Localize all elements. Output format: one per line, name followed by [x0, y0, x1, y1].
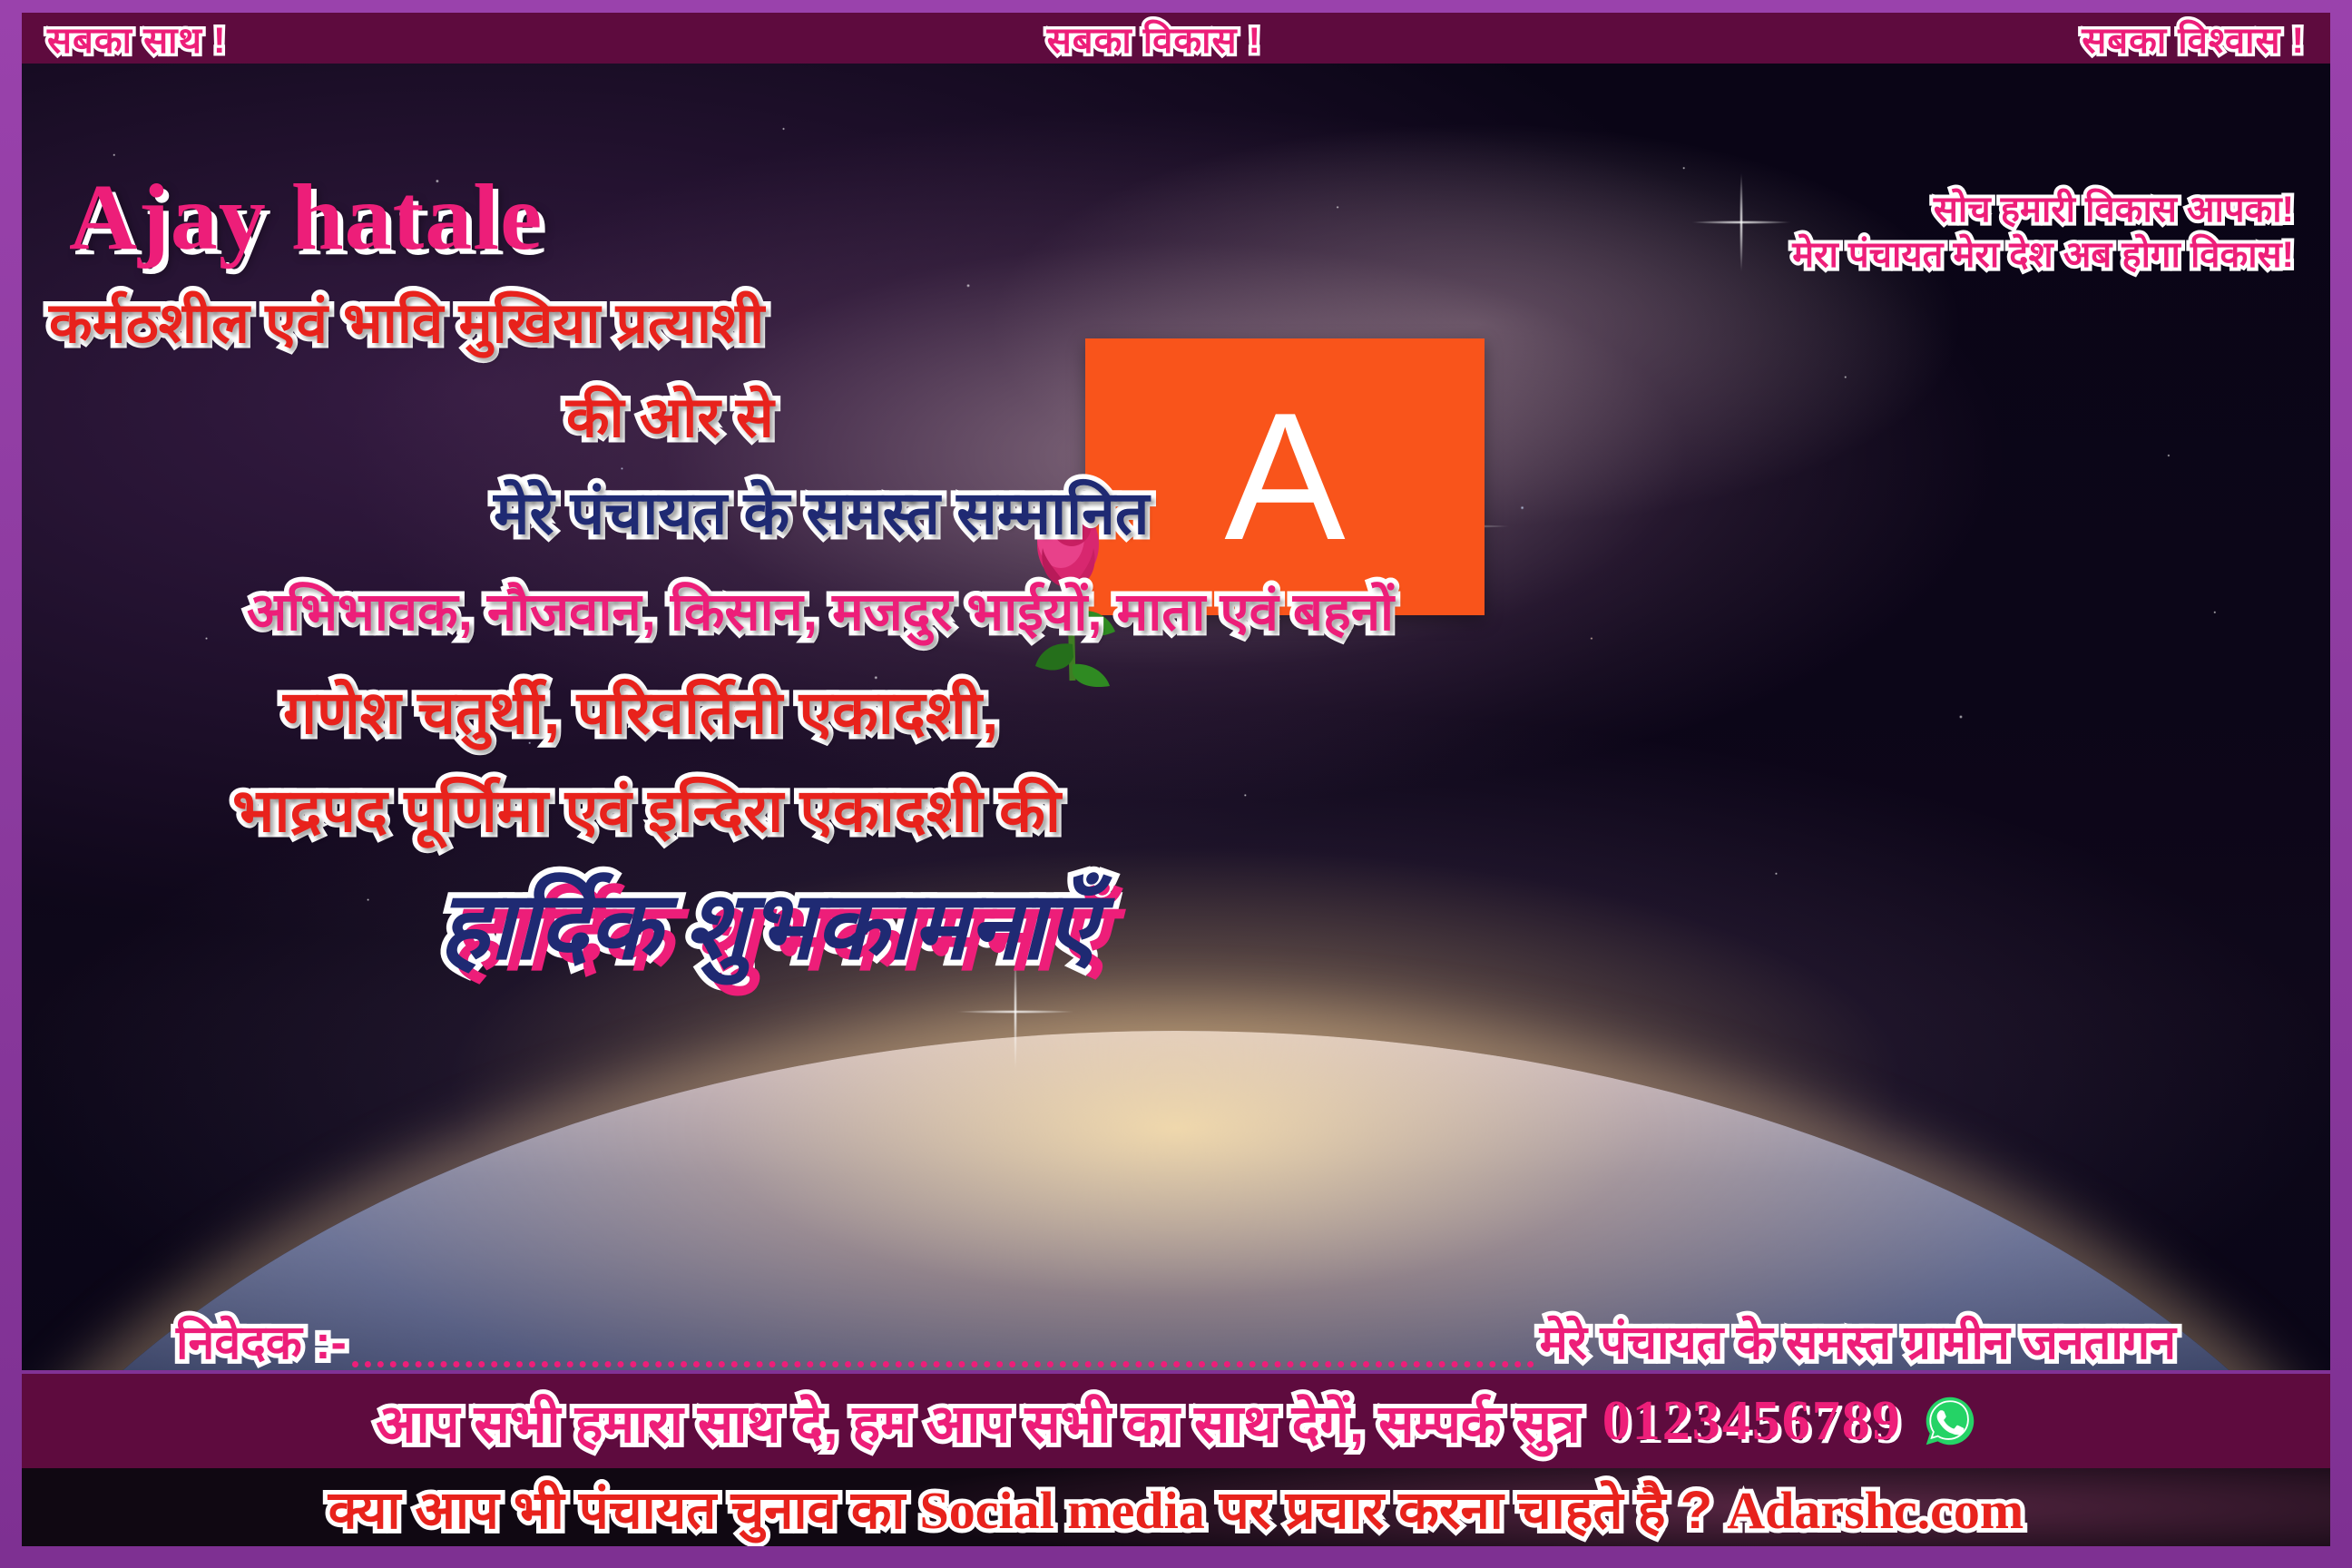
sender-label: निवेदक :- — [176, 1308, 347, 1370]
message-line-1: कर्मठशील एवं भावि मुखिया प्रत्याशी — [49, 296, 764, 352]
message-line-6: भाद्रपद पूर्णिमा एवं इन्दिरा एकादशी की — [232, 780, 1061, 840]
tagline-line-2: मेरा पंचायत मेरा देश अब होगा विकास! — [1792, 232, 2294, 278]
slogan-sabka-saath: सबका साथ ! — [47, 14, 226, 64]
promo-website[interactable]: Adarshc.com — [1727, 1481, 2024, 1540]
message-line-5: गणेश चतुर्थी, परिवर्तिनी एकादशी, — [283, 682, 998, 742]
candidate-photo-placeholder[interactable]: A — [1085, 338, 1485, 615]
contact-phone-number: 0123456789 — [1602, 1389, 1902, 1454]
galaxy-background: Ajay hatale सोच हमारी विकास आपका! मेरा प… — [22, 64, 2330, 1370]
sender-row: निवेदक :- मेरे पंचायत के समस्त ग्रामीन ज… — [22, 1308, 2330, 1370]
message-line-7-greeting: हार्दिक शुभकामनाएँ — [439, 880, 1097, 975]
promo-text-social-media: Social media — [920, 1481, 1205, 1540]
whatsapp-icon[interactable] — [1924, 1395, 1976, 1447]
slogan-sabka-vikas: सबका विकास ! — [1047, 14, 1261, 64]
promo-text-pre: क्या आप भी पंचायत चुनाव का — [328, 1481, 920, 1540]
candidate-name: Ajay hatale — [69, 163, 543, 271]
promo-text: क्या आप भी पंचायत चुनाव का Social media … — [328, 1472, 2024, 1543]
promo-text-mid: पर प्रचार करना चाहते है ? — [1205, 1481, 1727, 1540]
photo-initial-letter: A — [1224, 387, 1345, 568]
message-line-2: की ओर से — [566, 390, 774, 446]
tagline-block: सोच हमारी विकास आपका! मेरा पंचायत मेरा द… — [1792, 187, 2294, 278]
election-greeting-poster: सबका साथ ! सबका विकास ! सबका विश्वास ! A… — [0, 0, 2352, 1568]
tagline-line-1: सोच हमारी विकास आपका! — [1792, 187, 2294, 232]
top-slogan-band: सबका साथ ! सबका विकास ! सबका विश्वास ! — [22, 13, 2330, 64]
slogan-sabka-vishwas: सबका विश्वास ! — [2082, 14, 2305, 64]
message-line-4: अभिभावक, नौजवान, किसान, मजदुर भाईयों, मा… — [247, 586, 1394, 639]
sender-dotted-rule — [352, 1314, 1534, 1367]
promo-band: क्या आप भी पंचायत चुनाव का Social media … — [22, 1468, 2330, 1546]
support-appeal-text: आप सभी हमारा साथ दे, हम आप सभी का साथ दे… — [376, 1386, 1581, 1457]
message-line-3: मेरे पंचायत के समस्त सम्मानित — [494, 483, 1150, 543]
sender-value: मेरे पंचायत के समस्त ग्रामीन जनतागन — [1540, 1308, 2176, 1370]
contact-band: आप सभी हमारा साथ दे, हम आप सभी का साथ दे… — [22, 1374, 2330, 1468]
